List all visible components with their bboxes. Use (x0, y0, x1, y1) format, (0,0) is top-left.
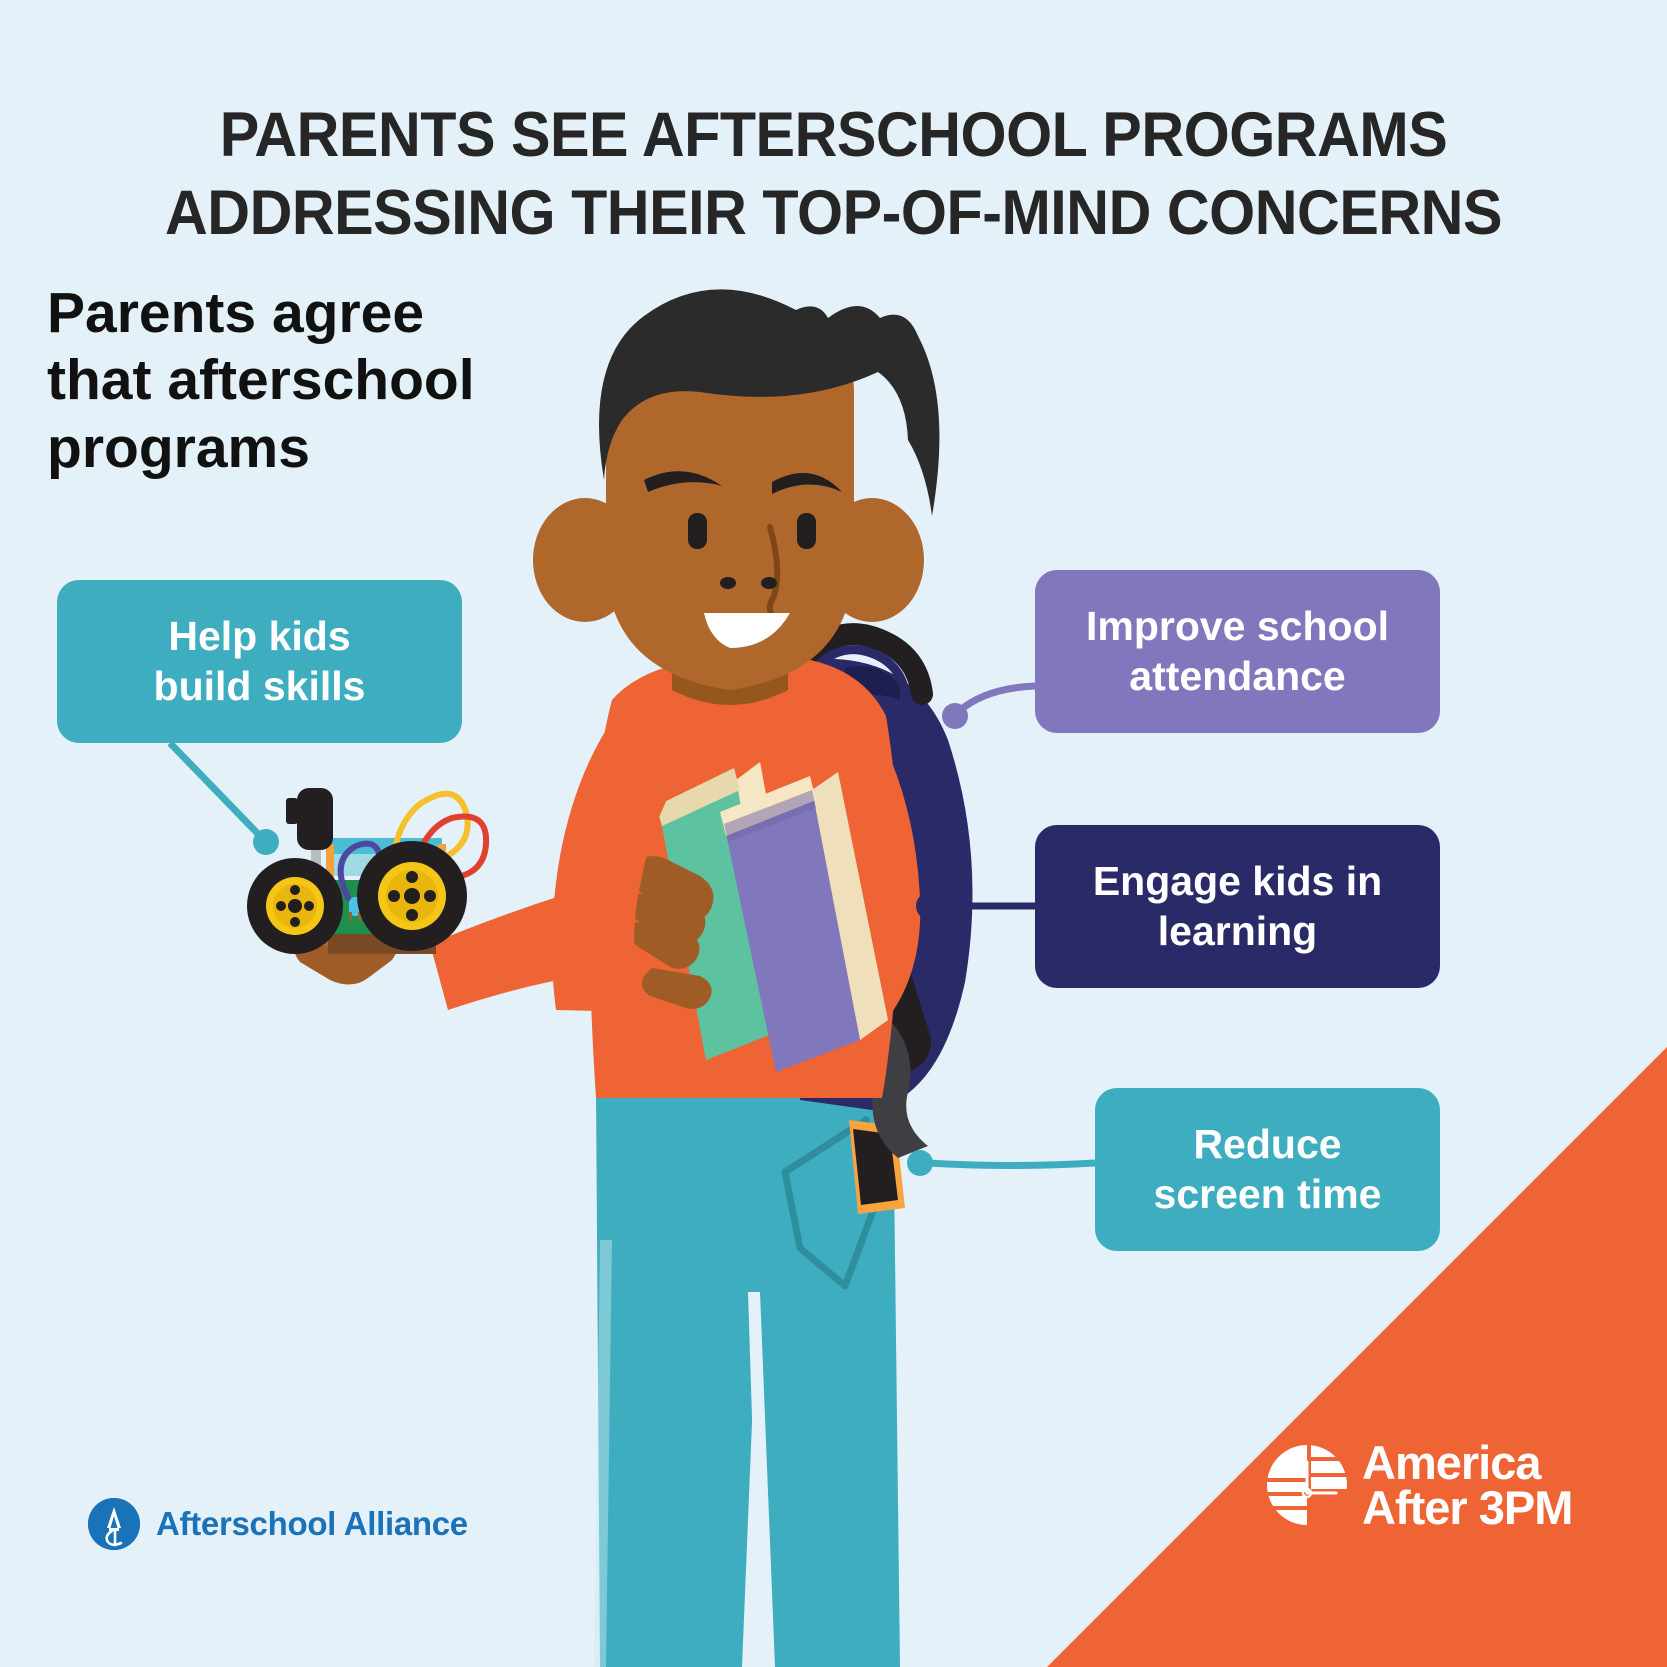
callout-skills-line-1: Help kids (154, 612, 366, 661)
afterschool-alliance-logo: Afterschool Alliance (88, 1498, 468, 1550)
callout-screen-line-1: Reduce (1154, 1120, 1382, 1169)
robot-car-toy (247, 788, 486, 954)
america-after-3pm-clock-flag-mark (1264, 1442, 1350, 1528)
callout-engage-line-2: learning (1093, 907, 1382, 956)
callout-screen-line-2: screen time (1154, 1170, 1382, 1219)
pants (594, 1090, 900, 1667)
america-after-3pm-logo: America After 3PM (1264, 1440, 1572, 1530)
headline-line-2: ADDRESSING THEIR TOP-OF-MIND CONCERNS (50, 174, 1617, 252)
callout-engage-line-1: Engage kids in (1093, 857, 1382, 906)
aa3-line-1: America (1362, 1440, 1572, 1485)
infographic-poster: PARENTS SEE AFTERSCHOOL PROGRAMS ADDRESS… (0, 0, 1667, 1667)
callout-engage-kids-in-learning[interactable]: Engage kids in learning (1035, 825, 1440, 988)
subhead-line-2: that afterschool (47, 347, 587, 414)
callout-skills-line-2: build skills (154, 662, 366, 711)
subhead-line-1: Parents agree (47, 280, 587, 347)
page-title: PARENTS SEE AFTERSCHOOL PROGRAMS ADDRESS… (50, 96, 1617, 252)
subhead-line-3: programs (47, 415, 587, 482)
afterschool-alliance-a-mark (88, 1498, 140, 1550)
headline-line-1: PARENTS SEE AFTERSCHOOL PROGRAMS (50, 96, 1617, 174)
callout-help-kids-build-skills[interactable]: Help kids build skills (57, 580, 462, 743)
callout-attendance-line-1: Improve school (1086, 602, 1389, 651)
callout-reduce-screen-time[interactable]: Reduce screen time (1095, 1088, 1440, 1251)
callout-improve-school-attendance[interactable]: Improve school attendance (1035, 570, 1440, 733)
afterschool-alliance-wordmark: Afterschool Alliance (156, 1505, 468, 1543)
aa3-line-2: After 3PM (1362, 1485, 1572, 1530)
america-after-3pm-wordmark: America After 3PM (1362, 1440, 1572, 1530)
subheading: Parents agree that afterschool programs (47, 280, 587, 482)
callout-attendance-line-2: attendance (1086, 652, 1389, 701)
